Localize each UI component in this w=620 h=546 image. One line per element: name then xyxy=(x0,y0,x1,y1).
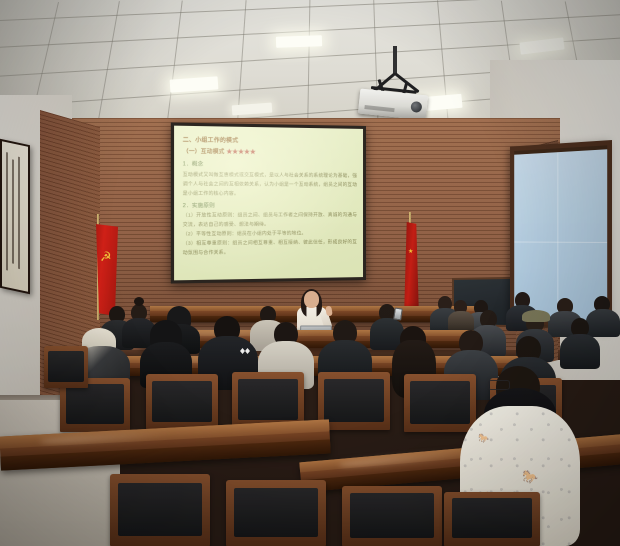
party-flag: ☭ xyxy=(96,224,118,316)
chair-front-a[interactable] xyxy=(110,474,210,546)
hammer-sickle-icon: ☭ xyxy=(100,250,114,272)
projector-mount-pole xyxy=(393,46,397,74)
student-row3-far-right xyxy=(560,318,600,368)
panel-light-center xyxy=(276,35,322,48)
smartphone[interactable] xyxy=(393,308,403,321)
horse-print-motif-1: 🐎 xyxy=(478,434,489,443)
projector-lens-icon xyxy=(410,101,422,113)
projection-screen: 二、小组工作的模式 （一）互动模式 ★★★★★ 1．概念 互动模式又叫做互惠模式… xyxy=(171,122,366,283)
chair-row2-b[interactable] xyxy=(146,374,218,430)
instructor-head xyxy=(304,291,319,308)
ceiling-projector xyxy=(345,46,455,126)
chair-front-b[interactable] xyxy=(226,480,326,546)
chair-left-rear[interactable] xyxy=(44,346,88,388)
projector-vent xyxy=(364,105,394,112)
baseball-cap xyxy=(522,310,550,322)
classroom-photo: 二、小组工作的模式 （一）互动模式 ★★★★★ 1．概念 互动模式又叫做互惠模式… xyxy=(0,0,620,546)
panel-light-rear xyxy=(232,103,273,116)
framed-calligraphy-scroll xyxy=(0,139,30,294)
chair-front-c[interactable] xyxy=(342,486,442,546)
instructor-hand-gesture xyxy=(325,306,333,317)
projector-body xyxy=(358,89,428,121)
eyeglasses-icon xyxy=(488,380,510,390)
horse-print-motif-2: 🐎 xyxy=(522,470,538,483)
chair-row2-c[interactable] xyxy=(232,372,304,428)
chair-front-d[interactable] xyxy=(444,492,540,546)
star-icon: ★ xyxy=(408,248,413,255)
